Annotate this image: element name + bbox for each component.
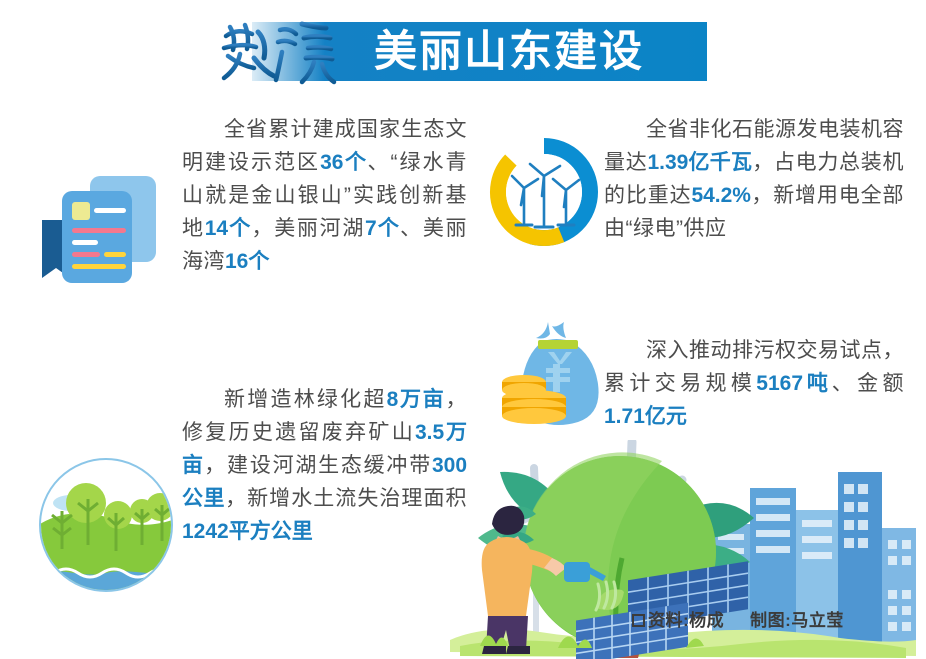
block-clean-energy: 全省非化石能源发电装机容量达1.39亿千瓦，占电力总装机的比重达54.2%，新增… xyxy=(604,113,904,245)
block-demonstration-zones: 全省累计建成国家生态文明建设示范区36个、“绿水青山就是金山银山”实践创新基地1… xyxy=(182,113,467,278)
block-emission-trading-text: 深入推动排污权交易试点，累计交易规模5167吨、金额1.71亿元 xyxy=(604,334,904,433)
document-stack-icon xyxy=(36,158,176,298)
infographic-page: 美丽山东建设 xyxy=(0,0,926,659)
wind-turbine-donut-icon xyxy=(484,132,604,252)
credit-line: 资料:杨成制图:马立莹 xyxy=(632,606,844,631)
block-afforestation: 新增造林绿化超8万亩，修复历史遗留废弃矿山3.5万亩，建设河湖生态缓冲带300公… xyxy=(182,383,467,548)
credit-source: 资料:杨成 xyxy=(648,611,724,630)
title-band: 美丽山东建设 xyxy=(252,22,707,81)
credit-square-icon xyxy=(632,614,645,627)
block-emission-trading: 深入推动排污权交易试点，累计交易规模5167吨、金额1.71亿元 xyxy=(604,334,904,433)
block-afforestation-text: 新增造林绿化超8万亩，修复历史遗留废弃矿山3.5万亩，建设河湖生态缓冲带300公… xyxy=(182,383,467,548)
block-demonstration-zones-text: 全省累计建成国家生态文明建设示范区36个、“绿水青山就是金山银山”实践创新基地1… xyxy=(182,113,467,278)
green-landscape-icon xyxy=(26,445,186,605)
header: 美丽山东建设 xyxy=(0,0,926,100)
block-clean-energy-text: 全省非化石能源发电装机容量达1.39亿千瓦，占电力总装机的比重达54.2%，新增… xyxy=(604,113,904,245)
money-bag-coins-icon xyxy=(486,312,618,436)
page-title: 美丽山东建设 xyxy=(374,25,644,79)
credit-designer: 制图:马立莹 xyxy=(750,611,844,630)
